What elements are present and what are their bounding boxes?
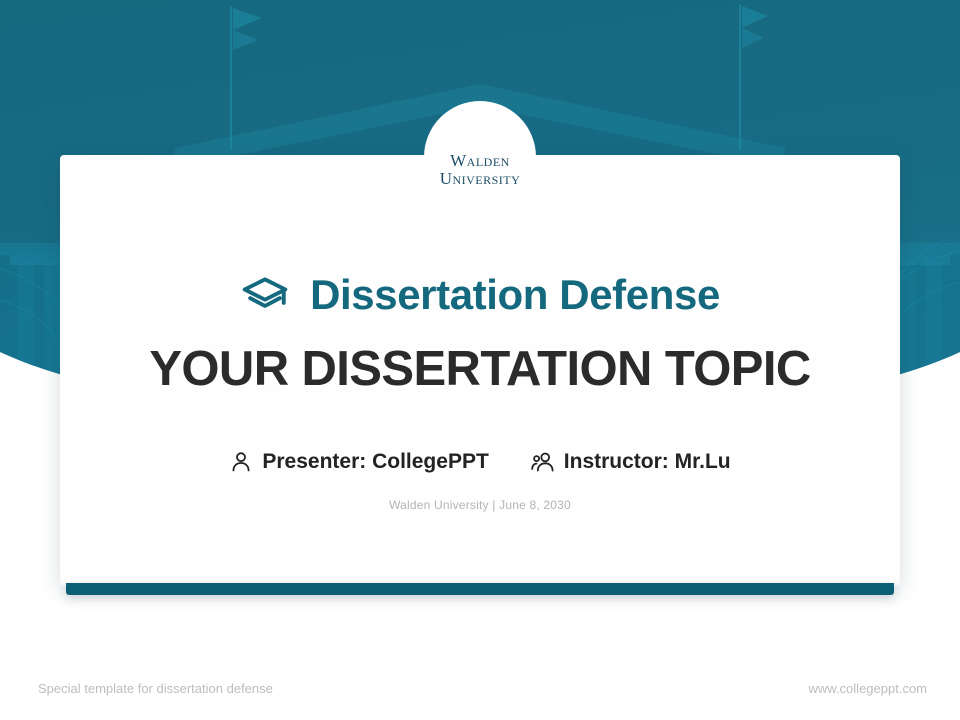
footer-website: www.collegeppt.com bbox=[809, 681, 928, 696]
people-group-icon bbox=[531, 450, 555, 474]
dissertation-topic: YOUR DISSERTATION TOPIC bbox=[0, 341, 960, 397]
logo-line-2: University bbox=[400, 170, 560, 188]
headline-text: Dissertation Defense bbox=[310, 271, 720, 319]
instructor-item: Instructor: Mr.Lu bbox=[531, 450, 731, 474]
person-icon bbox=[229, 450, 253, 474]
graduation-cap-icon bbox=[240, 270, 290, 320]
slide-meta: Walden University | June 8, 2030 bbox=[0, 498, 960, 512]
headline-row: Dissertation Defense bbox=[0, 270, 960, 320]
university-logo: Walden University bbox=[400, 152, 560, 188]
people-row: Presenter: CollegePPT Instructor: Mr.Lu bbox=[0, 450, 960, 474]
presenter-item: Presenter: CollegePPT bbox=[229, 450, 488, 474]
footer-note: Special template for dissertation defens… bbox=[38, 681, 273, 696]
card-accent-bar bbox=[66, 583, 894, 595]
presenter-label: Presenter: CollegePPT bbox=[262, 450, 488, 474]
title-slide: Walden University Dissertation Defense Y… bbox=[0, 0, 960, 720]
logo-line-1: Walden bbox=[400, 152, 560, 170]
instructor-label: Instructor: Mr.Lu bbox=[564, 450, 731, 474]
